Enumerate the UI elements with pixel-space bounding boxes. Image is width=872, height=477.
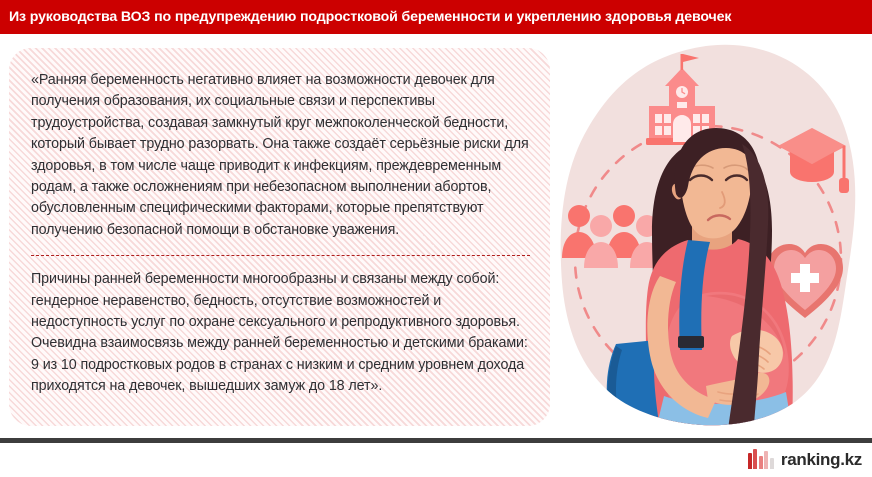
quote-panel: «Ранняя беременность негативно влияет на…: [9, 48, 550, 426]
illustration: [556, 44, 866, 429]
illustration-svg: [556, 44, 866, 429]
footer-rule: [0, 438, 872, 443]
ranking-kz-logo[interactable]: ranking.kz: [748, 446, 862, 472]
page-title: Из руководства ВОЗ по предупреждению под…: [0, 10, 731, 24]
quote-paragraph-1: «Ранняя беременность негативно влияет на…: [31, 70, 530, 241]
paragraph-divider: [31, 255, 530, 256]
quote-panel-content: «Ранняя беременность негативно влияет на…: [31, 70, 530, 398]
quote-paragraph-2: Причины ранней беременности многообразны…: [31, 269, 530, 397]
backpack-buckle: [678, 336, 704, 348]
logo-bars-icon: [748, 449, 774, 469]
infographic-card: Из руководства ВОЗ по предупреждению под…: [0, 0, 872, 477]
header-bar: Из руководства ВОЗ по предупреждению под…: [0, 0, 872, 34]
logo-text: ranking.kz: [781, 451, 862, 468]
